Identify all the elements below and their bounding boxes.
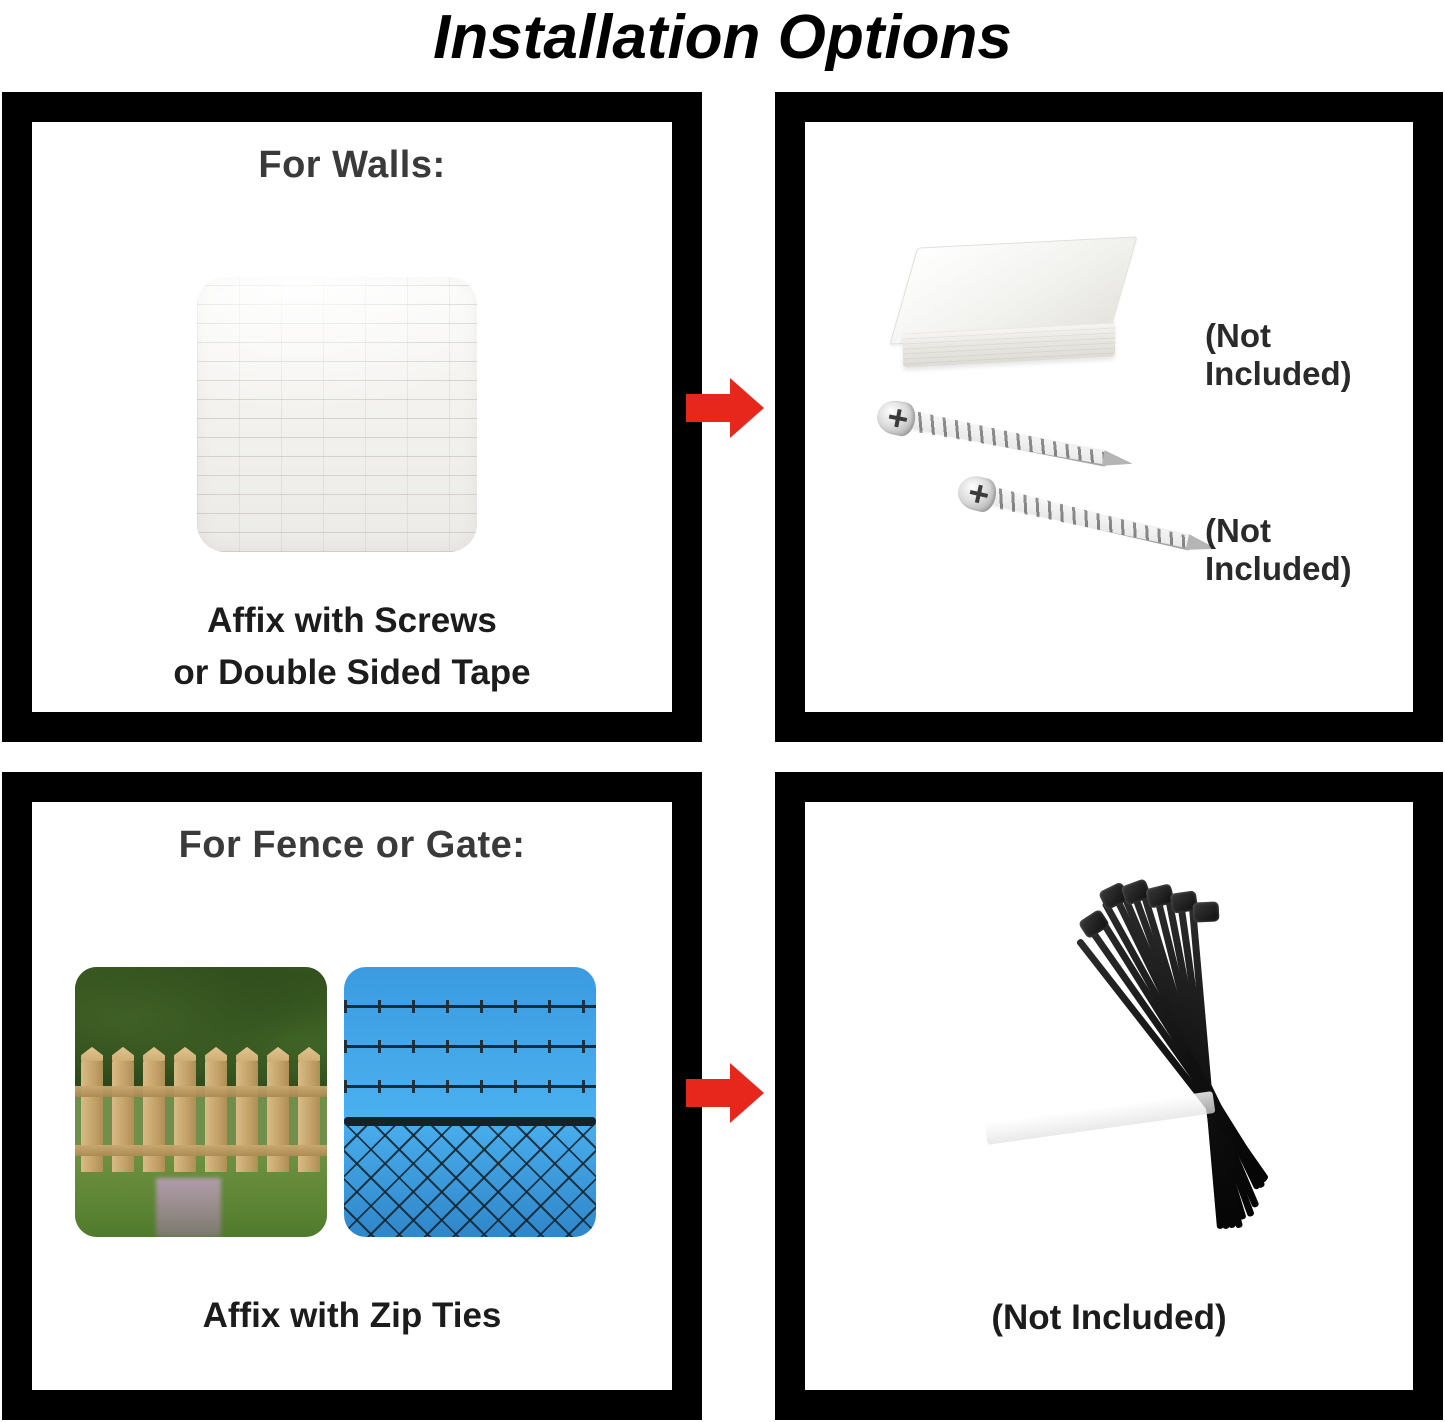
zip-ties-not-included-label: (Not Included) — [805, 1298, 1413, 1338]
arrow-head — [730, 1063, 764, 1123]
page-title: Installation Options — [0, 2, 1445, 73]
panel-for-fence-inner: For Fence or Gate: — [32, 802, 672, 1390]
zip-ties-bundle-icon — [915, 892, 1315, 1312]
tape-not-included-label: (Not Included) — [1205, 317, 1413, 393]
panel-for-fence-or-gate: For Fence or Gate: — [2, 772, 702, 1420]
screw-threads — [988, 482, 1194, 557]
double-sided-tape-icon — [895, 242, 1135, 372]
fence-rail-bottom — [75, 1145, 327, 1156]
arrow-head — [730, 378, 764, 438]
for-walls-caption-line1: Affix with Screws — [32, 597, 672, 644]
screw-body — [955, 473, 1221, 566]
zip-tie-head — [1192, 901, 1219, 922]
screw-body — [874, 398, 1136, 481]
screw-tip — [1102, 450, 1135, 471]
for-walls-caption-line2: or Double Sided Tape — [32, 649, 672, 696]
panel-hardware: (Not Included) (Not Included) — [775, 92, 1443, 742]
barbed-wire-3 — [344, 1085, 596, 1088]
garden-path — [156, 1178, 222, 1237]
wooden-picket-fence-photo — [75, 967, 327, 1237]
screws-not-included-label: (Not Included) — [1205, 512, 1413, 588]
fence-rail-top — [75, 1086, 327, 1097]
screw-threads — [908, 406, 1110, 474]
for-walls-heading: For Walls: — [32, 144, 672, 187]
chain-link-fence-photo — [344, 967, 596, 1237]
arrow-shaft — [686, 1079, 734, 1107]
panel-hardware-inner: (Not Included) (Not Included) — [805, 122, 1413, 712]
barbed-wire-2 — [344, 1045, 596, 1048]
panel-zip-ties: (Not Included) — [775, 772, 1443, 1420]
wood-fence-scene — [75, 967, 327, 1237]
arrow-shaft — [686, 394, 734, 422]
zip-tie-bundle-band — [985, 1091, 1216, 1145]
screw-icon-2 — [955, 473, 1221, 566]
screw-head — [874, 398, 918, 439]
for-fence-heading: For Fence or Gate: — [32, 824, 672, 867]
zip-tie-head — [1078, 909, 1111, 940]
panel-for-walls: For Walls: Affix with Screws or Double S… — [2, 92, 702, 742]
brick-wall-swatch — [197, 277, 477, 552]
screw-head — [955, 473, 1000, 515]
panel-zip-ties-inner: (Not Included) — [805, 802, 1413, 1390]
for-fence-caption: Affix with Zip Ties — [32, 1292, 672, 1339]
chain-link-mesh — [344, 1124, 596, 1237]
chain-fence-scene — [344, 967, 596, 1237]
screw-icon-1 — [874, 398, 1136, 481]
panel-for-walls-inner: For Walls: Affix with Screws or Double S… — [32, 122, 672, 712]
barbed-wire-1 — [344, 1005, 596, 1008]
